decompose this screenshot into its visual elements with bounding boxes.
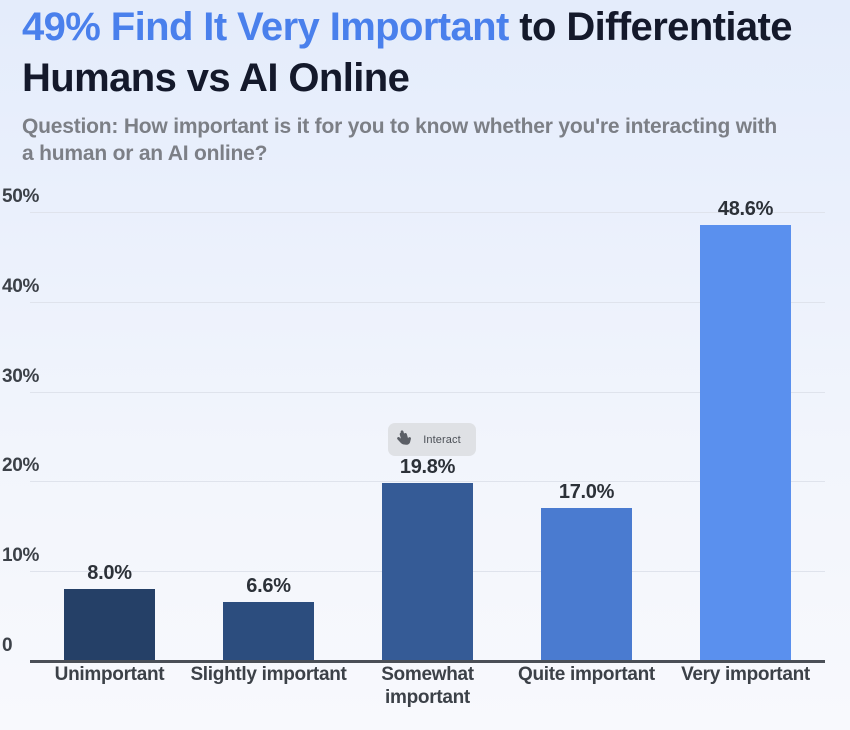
bar-chart: 010%20%30%40%50% 8.0%6.6%19.8%17.0%48.6%… [0,193,850,730]
x-axis-tick-label: Very important [666,663,825,686]
bar[interactable] [541,508,632,661]
bar-column[interactable]: 17.0% [541,212,632,661]
chart-page: 49% Find It Very Important to Differenti… [0,0,850,730]
pointing-hand-icon [395,430,414,449]
page-title: 49% Find It Very Important to Differenti… [22,0,834,104]
bar[interactable] [382,483,473,661]
x-axis-tick-label: Unimportant [30,663,189,686]
x-axis-tick-label: Somewhat important [348,663,507,709]
chart-header: 49% Find It Very Important to Differenti… [22,0,834,167]
bar-value-label: 6.6% [246,575,290,598]
bar-value-label: 19.8% [400,456,455,479]
bar-column[interactable]: 48.6% [700,212,791,661]
bar-column[interactable]: 8.0% [64,212,155,661]
y-axis-tick-label: 50% [2,186,80,208]
bar[interactable] [223,602,314,661]
x-axis-tick-label: Slightly important [189,663,348,686]
bar[interactable] [64,589,155,661]
bar[interactable] [700,225,791,661]
interact-badge[interactable]: Interact [388,423,476,456]
bar-value-label: 17.0% [559,481,614,504]
chart-subtitle: Question: How important is it for you to… [22,104,782,167]
bar-value-label: 48.6% [718,198,773,221]
title-highlight: 49% Find It Very Important [22,5,509,49]
x-axis-tick-label: Quite important [507,663,666,686]
interact-badge-label: Interact [414,434,476,446]
bar-column[interactable]: 6.6% [223,212,314,661]
bar-value-label: 8.0% [87,562,131,585]
